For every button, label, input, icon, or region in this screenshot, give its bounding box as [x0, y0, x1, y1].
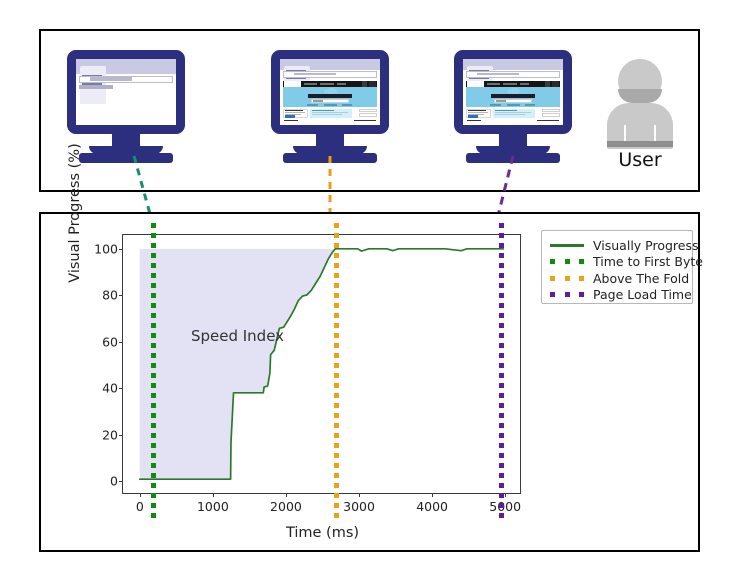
- page-search-text: [496, 100, 506, 102]
- page-side-field: [542, 109, 560, 113]
- page-footer-text: [284, 120, 298, 122]
- legend-dot: [550, 276, 555, 281]
- legend-dot: [579, 276, 584, 281]
- legend-label: Visually Progress: [593, 238, 699, 253]
- page-side-field: [359, 109, 377, 113]
- page-card-button: [285, 115, 295, 117]
- plot-area: Visual Progress (%) Time (ms) 0204060801…: [122, 234, 521, 494]
- speed-index-area: [140, 249, 336, 479]
- page-footer-text: [537, 120, 559, 122]
- legend-dot: [565, 292, 570, 297]
- legend-dotted-swatch: [550, 259, 584, 264]
- legend-dot: [550, 259, 555, 264]
- y-axis-label: Visual Progress (%): [67, 133, 83, 293]
- page-nav-item: [503, 83, 517, 86]
- page-logo: [284, 81, 301, 86]
- user-head-shadow: [618, 89, 662, 103]
- dotted-stroke: [151, 223, 156, 521]
- figure-root: User Visual Progress (%) Time (ms) 02040…: [0, 0, 739, 582]
- x-tick-mark: [140, 493, 141, 497]
- threshold-line-page-load-time: [499, 223, 504, 521]
- legend-dot: [565, 276, 570, 281]
- page-headline: [491, 94, 535, 98]
- legend-label: Page Load Time: [593, 287, 692, 302]
- legend-item[interactable]: Above The Fold: [550, 270, 689, 286]
- page-nav-item: [520, 83, 529, 86]
- x-tick-label: 3000: [343, 499, 375, 514]
- browser-url-text: [90, 77, 132, 80]
- legend-dot: [579, 259, 584, 264]
- monitor-complete: [454, 50, 572, 164]
- page-side-field: [542, 113, 560, 117]
- page-hero-link: [324, 104, 337, 106]
- user-body-shadow: [607, 141, 673, 147]
- y-tick-label: 0: [110, 474, 118, 489]
- user-label: User: [599, 149, 681, 171]
- x-tick-mark: [432, 493, 433, 497]
- monitor-blank: [67, 50, 185, 164]
- threshold-line-time-to-first-byte: [151, 223, 156, 521]
- y-tick-label: 100: [94, 241, 118, 256]
- monitor-screen-blank: [76, 59, 176, 125]
- speed-index-annotation: Speed Index: [191, 327, 284, 345]
- y-tick-label: 60: [102, 334, 118, 349]
- page-card-line: [312, 114, 342, 115]
- page-hero-link: [342, 104, 352, 106]
- x-axis-label: Time (ms): [123, 525, 522, 541]
- monitor-screen-loaded: [280, 59, 380, 125]
- page-header-icon: [545, 81, 550, 86]
- page-nav-item: [304, 83, 317, 86]
- legend-dot: [550, 292, 555, 297]
- page-footer-text: [467, 120, 481, 122]
- page-hero-link: [490, 104, 501, 106]
- y-tick-label: 40: [102, 381, 118, 396]
- monitor-base: [283, 153, 377, 163]
- page-card-button: [468, 115, 478, 117]
- monitor-base: [79, 153, 173, 163]
- legend-dot: [579, 292, 584, 297]
- dotted-stroke: [499, 223, 504, 521]
- page-logo: [467, 81, 484, 86]
- page-header-icon: [362, 81, 367, 86]
- page-hero-link: [525, 104, 535, 106]
- monitor-partial: [271, 50, 389, 164]
- x-tick-label: 2000: [270, 499, 302, 514]
- x-tick-mark: [505, 493, 506, 497]
- x-tick-mark: [213, 493, 214, 497]
- browser-url-text: [477, 73, 519, 76]
- legend-item[interactable]: Page Load Time: [550, 287, 692, 303]
- x-tick-mark: [286, 493, 287, 497]
- threshold-line-above-the-fold: [334, 223, 339, 521]
- illustration-panel: User: [39, 29, 700, 192]
- monitor-screen-loaded: [463, 59, 563, 125]
- page-nav-item: [320, 83, 334, 86]
- legend-line-swatch: [550, 244, 584, 247]
- legend-label: Time to First Byte: [593, 254, 703, 269]
- page-search-text: [313, 100, 323, 102]
- legend-item[interactable]: Visually Progress: [550, 237, 699, 253]
- page-nav-item: [487, 83, 500, 86]
- y-tick-label: 80: [102, 288, 118, 303]
- page-hero-link: [507, 104, 520, 106]
- x-tick-label: 0: [136, 499, 144, 514]
- page-nav-item: [337, 83, 346, 86]
- x-tick-label: 1000: [197, 499, 229, 514]
- visual-progress-plot: [123, 235, 520, 493]
- chart-legend: Visually ProgressTime to First ByteAbove…: [541, 230, 693, 304]
- legend-dot: [565, 259, 570, 264]
- browser-url-text: [294, 73, 336, 76]
- monitor-base: [466, 153, 560, 163]
- page-hero-link: [307, 104, 318, 106]
- x-tick-mark: [359, 493, 360, 497]
- dotted-stroke: [334, 223, 339, 521]
- page-headline: [308, 94, 352, 98]
- legend-dotted-swatch: [550, 292, 584, 297]
- page-card-line: [495, 114, 525, 115]
- page-side-field: [359, 113, 377, 117]
- x-tick-label: 5000: [489, 499, 521, 514]
- y-tick-label: 20: [102, 427, 118, 442]
- user-avatar: User: [607, 59, 673, 177]
- legend-label: Above The Fold: [593, 271, 689, 286]
- page-footer-text: [354, 120, 376, 122]
- browser-bookmarks-bar: [79, 85, 113, 88]
- legend-dotted-swatch: [550, 276, 584, 281]
- x-tick-label: 4000: [416, 499, 448, 514]
- legend-item[interactable]: Time to First Byte: [550, 254, 703, 270]
- chart-panel: Visual Progress (%) Time (ms) 0204060801…: [39, 212, 700, 552]
